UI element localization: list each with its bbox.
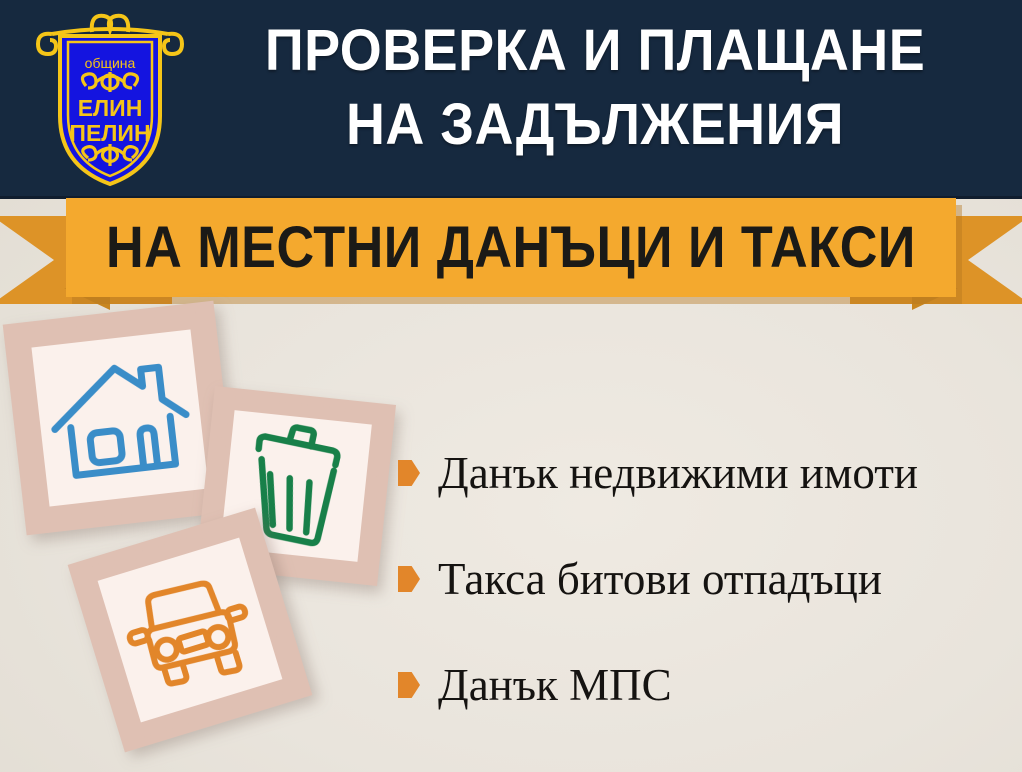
list-item[interactable]: Такса битови отпадъци bbox=[398, 526, 1008, 632]
poster-canvas: община ЕЛИН ПЕЛИН bbox=[0, 0, 1022, 772]
list-item[interactable]: Данък недвижими имоти bbox=[398, 420, 1008, 526]
poster-title: ПРОВЕРКА И ПЛАЩАНЕ НА ЗАДЪЛЖЕНИЯ bbox=[190, 14, 1000, 162]
ribbon-label: НА МЕСТНИ ДАНЪЦИ И ТАКСИ bbox=[106, 218, 916, 278]
arrow-bullet-icon bbox=[398, 460, 420, 486]
arrow-bullet-icon bbox=[398, 566, 420, 592]
list-item-label: Данък МПС bbox=[438, 660, 672, 710]
list-item-label: Данък недвижими имоти bbox=[438, 448, 918, 498]
crest-name-line-1: ЕЛИН bbox=[78, 95, 143, 121]
list-item-label: Такса битови отпадъци bbox=[438, 554, 882, 604]
crest-shield-icon: община ЕЛИН ПЕЛИН bbox=[30, 8, 190, 190]
title-line-2: НА ЗАДЪЛЖЕНИЯ bbox=[218, 88, 971, 162]
crest-name-line-2: ПЕЛИН bbox=[69, 120, 150, 146]
list-item[interactable]: Данък МПС bbox=[398, 632, 1008, 738]
tax-type-list: Данък недвижими имоти Такса битови отпад… bbox=[398, 420, 1008, 738]
title-line-1: ПРОВЕРКА И ПЛАЩАНЕ bbox=[218, 14, 971, 88]
ribbon-bar: НА МЕСТНИ ДАНЪЦИ И ТАКСИ bbox=[66, 198, 956, 297]
arrow-bullet-icon bbox=[398, 672, 420, 698]
municipality-crest: община ЕЛИН ПЕЛИН bbox=[30, 8, 190, 190]
header-banner: община ЕЛИН ПЕЛИН bbox=[0, 0, 1022, 199]
crest-municipality-word: община bbox=[85, 55, 136, 71]
subtitle-ribbon: НА МЕСТНИ ДАНЪЦИ И ТАКСИ bbox=[0, 196, 1022, 308]
